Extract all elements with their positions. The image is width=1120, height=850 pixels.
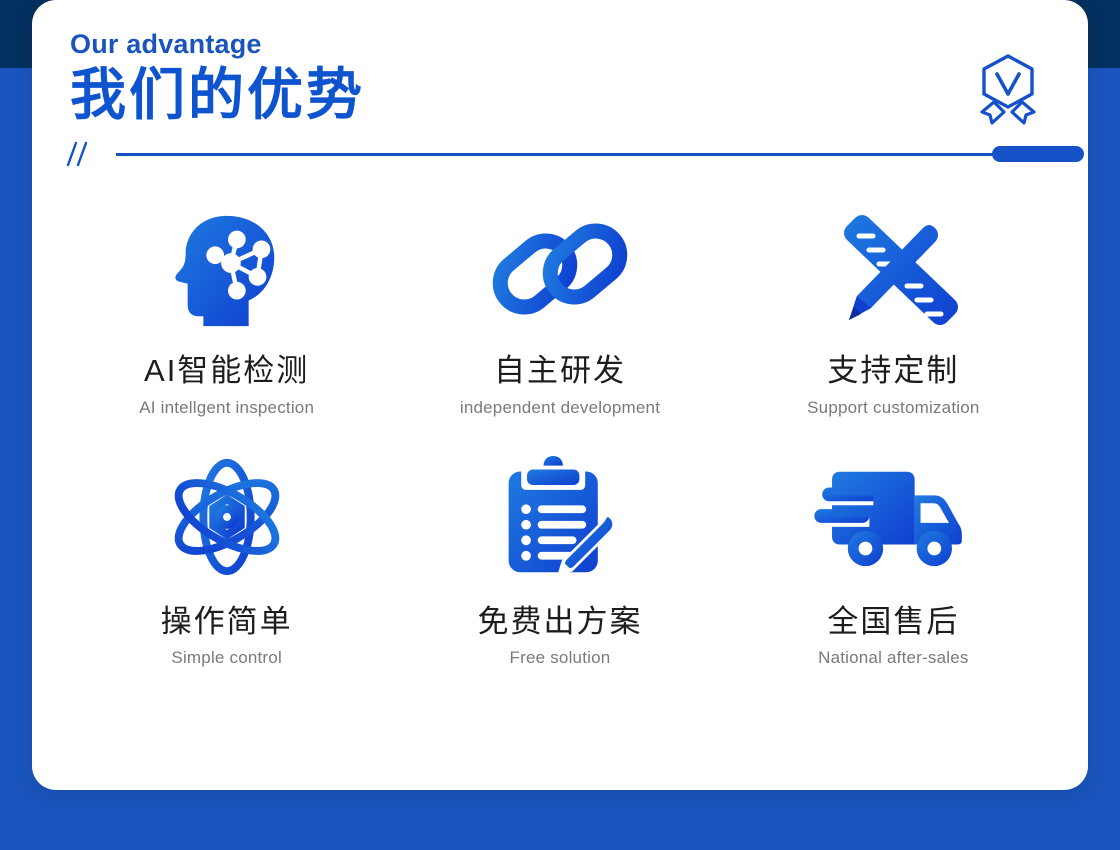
feature-item[interactable]: 免费出方案 Free solution [393,444,726,669]
feature-title-en: Free solution [510,648,611,668]
eyebrow-text: Our advantage [70,30,1052,58]
double-slash-icon [64,139,94,169]
header-divider [32,133,1088,175]
feature-item[interactable]: 全国售后 National after-sales [727,444,1060,669]
divider-line [116,153,996,156]
feature-item[interactable]: 支持定制 Support customization [727,199,1060,424]
feature-title-cn: 操作简单 [161,604,293,640]
divider-end-cap [992,146,1084,162]
card-header: Our advantage 我们的优势 [32,0,1088,127]
delivery-truck-icon [814,444,972,590]
feature-title-cn: AI智能检测 [144,353,309,389]
advantage-card: Our advantage 我们的优势 [32,0,1088,790]
ai-brain-head-icon [164,199,290,339]
feature-title-cn: 免费出方案 [477,604,642,640]
feature-item[interactable]: 操作简单 Simple control [60,444,393,669]
feature-title-en: Support customization [807,398,979,418]
pencil-ruler-icon [823,199,963,339]
clipboard-pen-icon [497,444,623,590]
feature-item[interactable]: AI智能检测 AI intellgent inspection [60,199,393,424]
feature-title-en: AI intellgent inspection [139,398,314,418]
feature-title-cn: 支持定制 [827,353,959,389]
atom-icon [163,444,291,590]
chain-links-icon [485,199,635,339]
feature-title-cn: 自主研发 [494,353,626,389]
feature-title-en: Simple control [171,648,282,668]
feature-title-cn: 全国售后 [827,604,959,640]
feature-title-en: independent development [460,398,660,418]
feature-grid: AI智能检测 AI intellgent inspection [32,175,1088,714]
page-title: 我们的优势 [70,64,1052,127]
feature-title-en: National after-sales [818,648,968,668]
feature-item[interactable]: 自主研发 independent development [393,199,726,424]
hexagon-award-badge-icon [972,52,1044,130]
